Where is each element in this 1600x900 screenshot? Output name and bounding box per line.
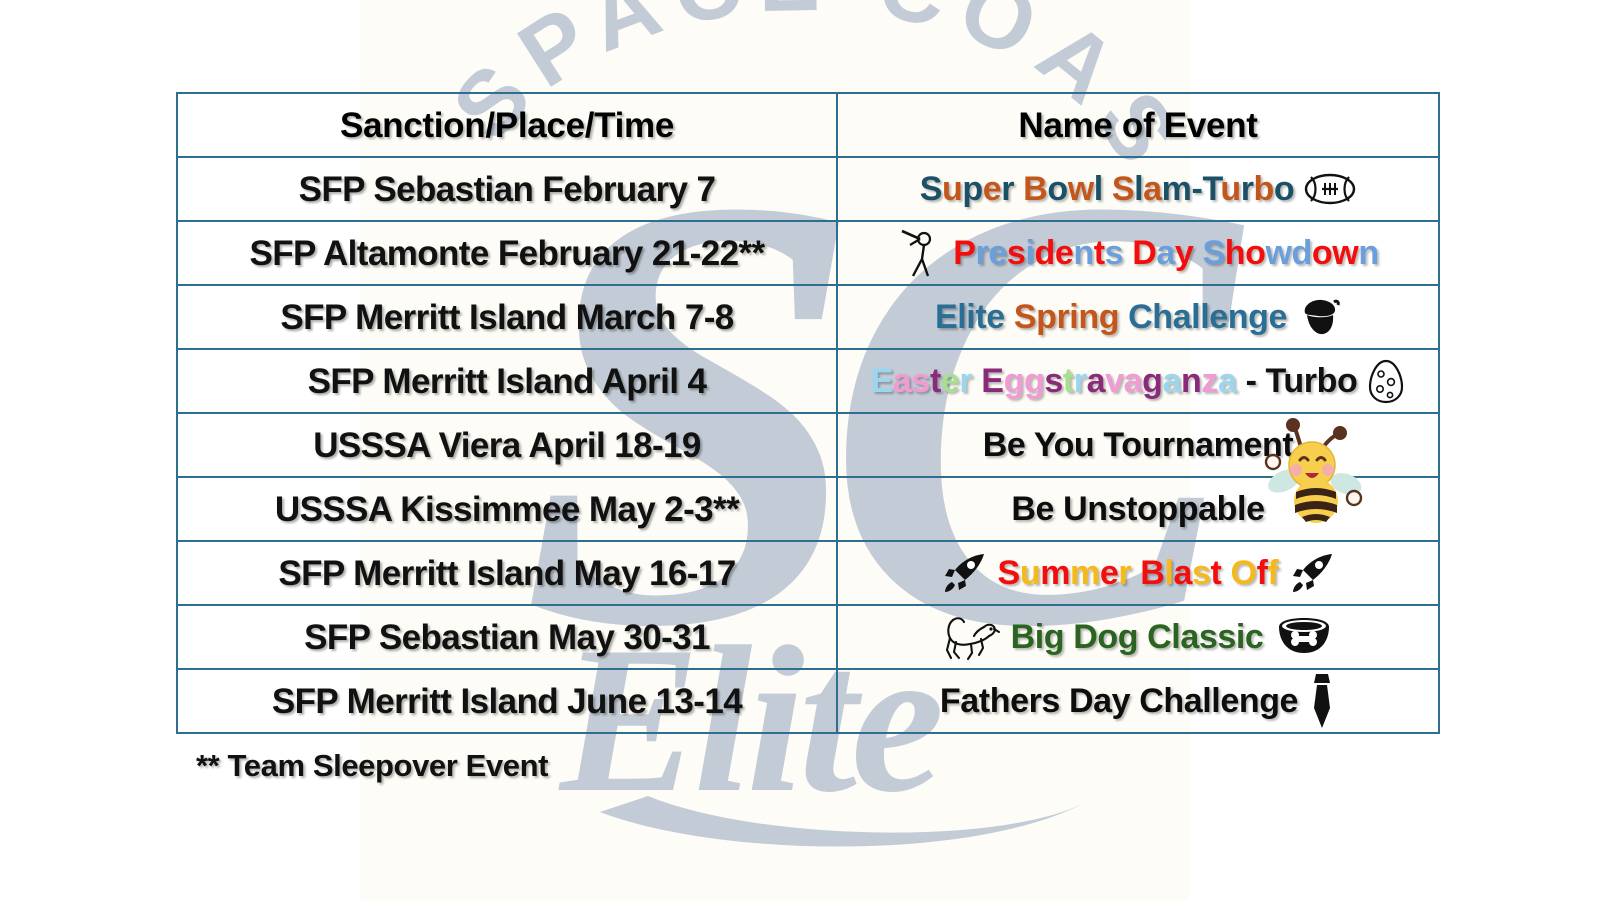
cell-event: Easter Eggstravaganza - Turbo bbox=[837, 349, 1439, 413]
cell-event: Fathers Day Challenge bbox=[837, 669, 1439, 733]
schedule-table-wrapper: Sanction/Place/Time Name of Event SFP Se… bbox=[176, 92, 1402, 734]
cell-sanction: SFP Sebastian May 30-31 bbox=[177, 605, 837, 669]
cell-event: Big Dog Classic bbox=[837, 605, 1439, 669]
cell-sanction: USSSA Viera April 18-19 bbox=[177, 413, 837, 477]
sanction-text: SFP Sebastian February 7 bbox=[299, 172, 716, 207]
dog-icon bbox=[941, 612, 1001, 662]
cell-sanction: USSSA Kissimmee May 2-3** bbox=[177, 477, 837, 541]
cell-sanction: SFP Merritt Island May 16-17 bbox=[177, 541, 837, 605]
dog-bowl-icon bbox=[1273, 615, 1335, 659]
table-row: USSSA Kissimmee May 2-3** Be Unstoppable bbox=[177, 477, 1439, 541]
event-name: Super Bowl Slam-Turbo bbox=[920, 172, 1295, 206]
sanction-text: SFP Merritt Island April 4 bbox=[308, 364, 707, 399]
acorn-icon bbox=[1297, 296, 1341, 338]
sanction-text: SFP Merritt Island June 13-14 bbox=[272, 684, 742, 719]
easter-egg-icon bbox=[1367, 358, 1405, 404]
header-cell-event: Name of Event bbox=[837, 93, 1439, 157]
sanction-text: USSSA Kissimmee May 2-3** bbox=[275, 492, 739, 527]
table-row: SFP Merritt Island May 16-17 bbox=[177, 541, 1439, 605]
football-icon bbox=[1304, 171, 1356, 207]
cell-event: Summer Blast Off bbox=[837, 541, 1439, 605]
event-name: Presidents Day Showdown bbox=[953, 236, 1378, 270]
header-event-label: Name of Event bbox=[1018, 108, 1257, 143]
header-cell-sanction: Sanction/Place/Time bbox=[177, 93, 837, 157]
batter-icon bbox=[897, 226, 943, 280]
event-name: Be You Tournament bbox=[983, 428, 1294, 462]
rocket-icon bbox=[940, 551, 988, 595]
sanction-text: SFP Merritt Island March 7-8 bbox=[280, 300, 733, 335]
event-name: Big Dog Classic bbox=[1011, 620, 1264, 654]
rocket-icon bbox=[1288, 551, 1336, 595]
table-row: SFP Sebastian May 30-31 bbox=[177, 605, 1439, 669]
cell-sanction: SFP Sebastian February 7 bbox=[177, 157, 837, 221]
table-row: SFP Sebastian February 7 Super Bowl Slam… bbox=[177, 157, 1439, 221]
footnote-text: ** Team Sleepover Event bbox=[196, 748, 548, 784]
sanction-text: SFP Merritt Island May 16-17 bbox=[278, 556, 735, 591]
cell-sanction: SFP Merritt Island March 7-8 bbox=[177, 285, 837, 349]
table-row: SFP Merritt Island June 13-14 Fathers Da… bbox=[177, 669, 1439, 733]
schedule-flyer: SPACE COAST SC Elite Sanction/Place/Time… bbox=[0, 0, 1600, 900]
schedule-table: Sanction/Place/Time Name of Event SFP Se… bbox=[176, 92, 1440, 734]
table-row: SFP Merritt Island March 7-8 Elite Sprin… bbox=[177, 285, 1439, 349]
event-name: Summer Blast Off bbox=[998, 556, 1279, 590]
table-row: SFP Altamonte February 21-22** bbox=[177, 221, 1439, 285]
event-name: Be Unstoppable bbox=[1011, 492, 1264, 526]
table-header-row: Sanction/Place/Time Name of Event bbox=[177, 93, 1439, 157]
event-name: Easter Eggstravaganza - Turbo bbox=[871, 364, 1358, 398]
sanction-text: SFP Altamonte February 21-22** bbox=[250, 236, 765, 271]
cell-event: Super Bowl Slam-Turbo bbox=[837, 157, 1439, 221]
header-sanction-label: Sanction/Place/Time bbox=[340, 108, 674, 143]
sanction-text: USSSA Viera April 18-19 bbox=[313, 428, 701, 463]
cell-event: Presidents Day Showdown bbox=[837, 221, 1439, 285]
cell-event: Be Unstoppable bbox=[837, 477, 1439, 541]
cell-sanction: SFP Merritt Island June 13-14 bbox=[177, 669, 837, 733]
event-name: Fathers Day Challenge bbox=[940, 684, 1298, 718]
cell-event: Be You Tournament bbox=[837, 413, 1439, 477]
cell-sanction: SFP Merritt Island April 4 bbox=[177, 349, 837, 413]
event-name: Elite Spring Challenge bbox=[935, 300, 1287, 334]
necktie-icon bbox=[1308, 672, 1336, 730]
table-row: USSSA Viera April 18-19 Be You Tournamen… bbox=[177, 413, 1439, 477]
sanction-text: SFP Sebastian May 30-31 bbox=[304, 620, 710, 655]
table-row: SFP Merritt Island April 4 Easter Eggstr… bbox=[177, 349, 1439, 413]
cell-event: Elite Spring Challenge bbox=[837, 285, 1439, 349]
cell-sanction: SFP Altamonte February 21-22** bbox=[177, 221, 837, 285]
